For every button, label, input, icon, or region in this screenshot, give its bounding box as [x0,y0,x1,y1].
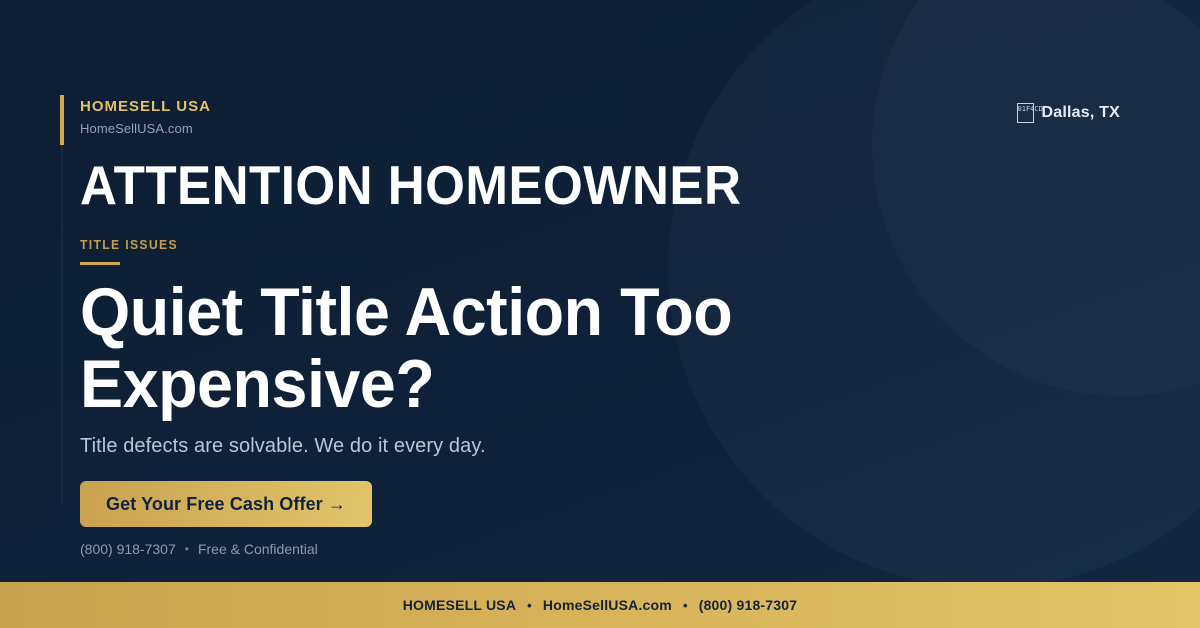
eyebrow-underline [80,262,120,265]
vertical-rail-line [61,145,63,505]
ad-banner: HOMESELL USA HomeSellUSA.com 01F 4CD Dal… [0,0,1200,628]
tofu-hex-top: 01F [1018,105,1031,114]
brand-block: HOMESELL USA HomeSellUSA.com [80,98,211,136]
footer-url[interactable]: HomeSellUSA.com [543,597,672,613]
brand-row: HOMESELL USA HomeSellUSA.com 01F 4CD Dal… [80,98,1120,136]
eyebrow-label: TITLE ISSUES [80,237,178,252]
gold-accent-bar [60,95,64,145]
location-pin-icon: 01F 4CD [1017,103,1034,123]
contact-line: (800) 918-7307 • Free & Confidential [80,541,318,557]
brand-name: HOMESELL USA [80,98,211,115]
brand-url: HomeSellUSA.com [80,121,211,136]
footer-bar: HOMESELL USA • HomeSellUSA.com • (800) 9… [0,582,1200,628]
contact-phone[interactable]: (800) 918-7307 [80,541,176,557]
page-title: Quiet Title Action Too Expensive? [80,276,869,420]
footer-separator-two-icon: • [683,598,688,613]
footer-phone[interactable]: (800) 918-7307 [699,597,798,613]
footer-brand: HOMESELL USA [403,597,516,613]
contact-note: Free & Confidential [198,541,318,557]
attention-heading: ATTENTION HOMEOWNER [80,158,741,213]
footer-separator-one-icon: • [527,598,532,613]
subheadline: Title defects are solvable. We do it eve… [80,435,486,458]
location-label: Dallas, TX [1042,104,1120,122]
banner-content: HOMESELL USA HomeSellUSA.com 01F 4CD Dal… [80,0,1120,582]
get-free-cash-offer-button[interactable]: Get Your Free Cash Offer → [80,481,372,527]
contact-separator-icon: • [185,542,189,556]
location-badge: 01F 4CD Dallas, TX [1017,103,1120,123]
